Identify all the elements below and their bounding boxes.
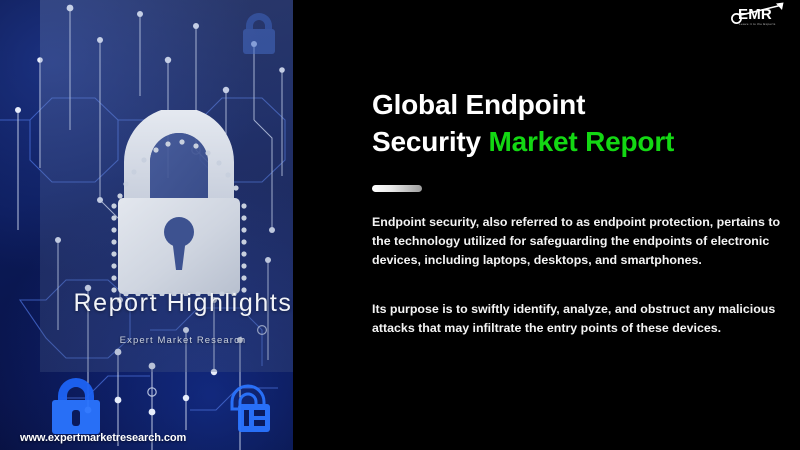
emr-logo[interactable]: EMR Leave it to the Experts [730, 2, 792, 36]
title-divider [372, 185, 422, 192]
main-content-pane: Global Endpoint Security Market Report E… [326, 0, 800, 450]
emr-logo-tagline: Leave it to the Experts [739, 22, 776, 26]
headline-line-2-plain: Security [372, 126, 488, 157]
glow-padlock-icon [218, 378, 280, 438]
emr-logo-text: EMR [738, 6, 772, 23]
report-highlights-card: Report Highlights Expert Market Research [40, 0, 293, 372]
card-subtitle: Expert Market Research [40, 335, 293, 346]
padlock-icon [104, 110, 254, 296]
left-visual-panel: Report Highlights Expert Market Research… [0, 0, 293, 450]
headline-line-2-accent: Market Report [488, 126, 674, 157]
report-slide: Report Highlights Expert Market Research… [0, 0, 800, 450]
card-title: Report Highlights [40, 289, 293, 318]
glow-padlock-icon [42, 370, 112, 436]
description-paragraph-1: Endpoint security, also referred to as e… [372, 213, 782, 270]
description-paragraph-2: Its purpose is to swiftly identify, anal… [372, 300, 782, 338]
footer-url[interactable]: www.expertmarketresearch.com [20, 432, 186, 444]
headline-line-1: Global Endpoint [372, 89, 585, 120]
page-title: Global Endpoint Security Market Report [372, 86, 792, 160]
